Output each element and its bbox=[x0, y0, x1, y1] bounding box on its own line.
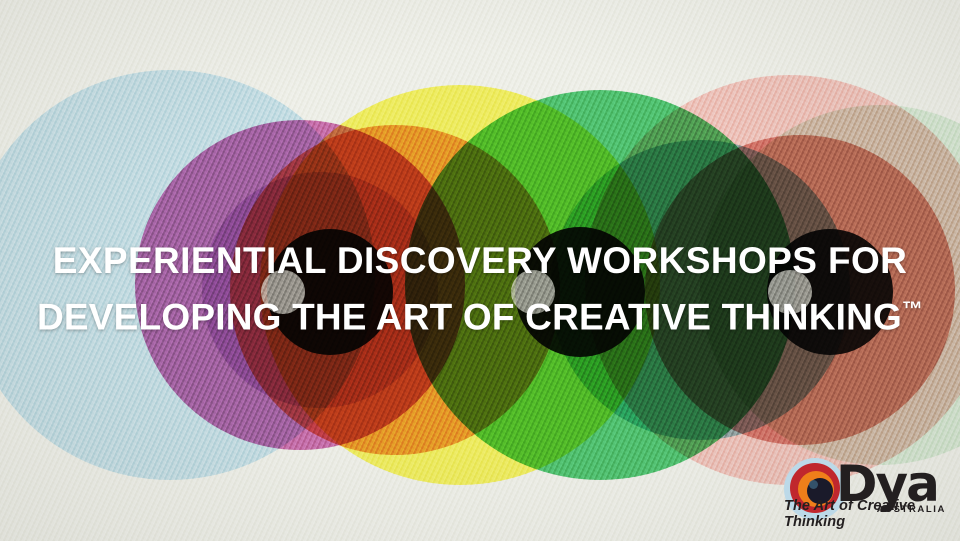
logo-tagline: The Art of Creative Thinking bbox=[784, 498, 947, 530]
headline-line-2: DEVELOPING THE ART OF CREATIVE THINKING™ bbox=[0, 285, 960, 341]
page-title: EXPERIENTIAL DISCOVERY WORKSHOPS FOR DEV… bbox=[0, 236, 960, 341]
logo-ring-core-highlight bbox=[809, 480, 818, 489]
trademark-symbol: ™ bbox=[902, 298, 923, 321]
headline-line-1: EXPERIENTIAL DISCOVERY WORKSHOPS FOR bbox=[0, 236, 960, 285]
promo-banner: EXPERIENTIAL DISCOVERY WORKSHOPS FOR DEV… bbox=[0, 0, 960, 541]
headline-line-2-text: DEVELOPING THE ART OF CREATIVE THINKING bbox=[37, 296, 902, 337]
dya-logo[interactable]: Dya AUSTRALIA The Art of Creative Thinki… bbox=[784, 454, 948, 532]
